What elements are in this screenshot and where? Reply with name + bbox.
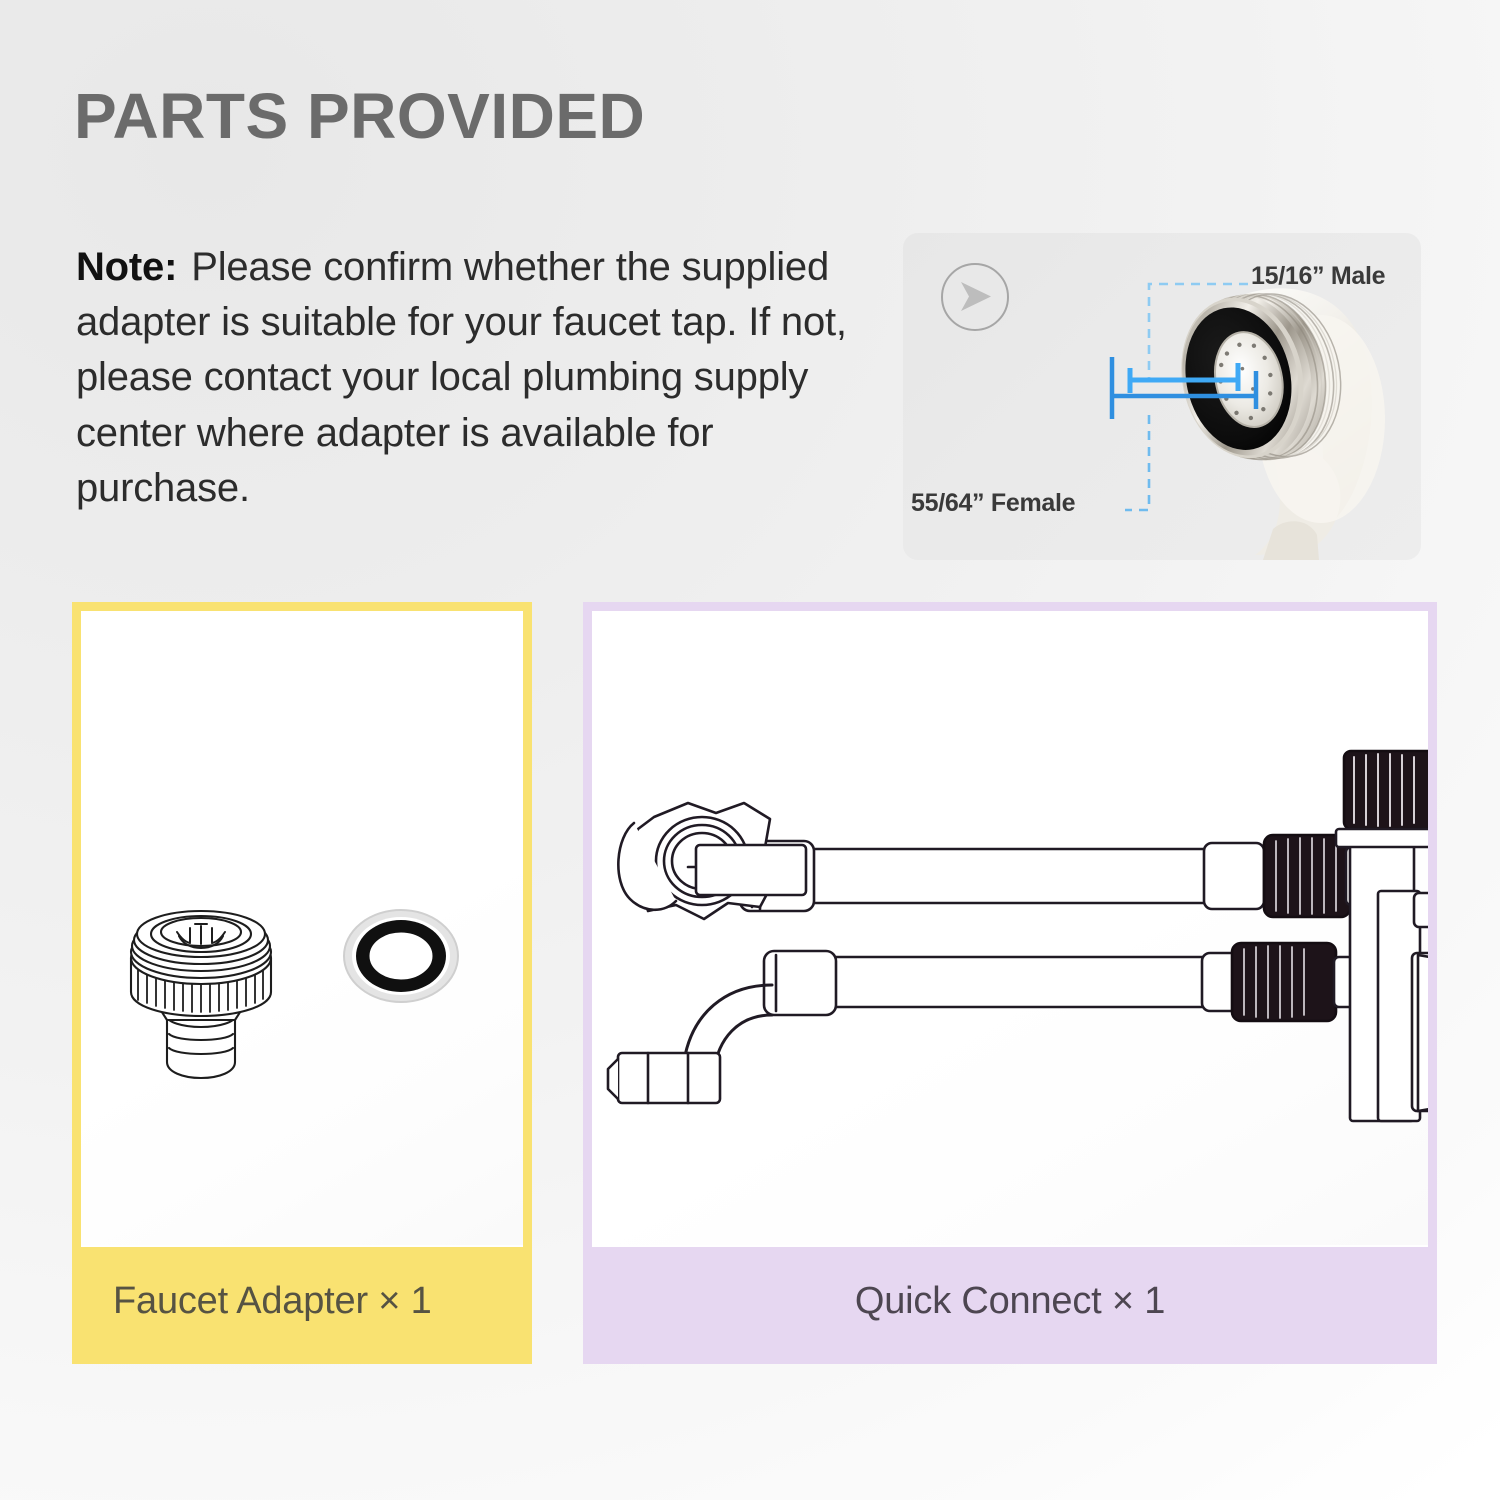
female-leader-line xyxy=(1125,415,1149,510)
callout-label-female: 55/64” Female xyxy=(911,489,1075,518)
part-caption-label: Faucet Adapter × 1 xyxy=(113,1280,432,1323)
note-block: Note:Please confirm whether the supplied… xyxy=(76,240,896,516)
page-title: PARTS PROVIDED xyxy=(74,84,645,148)
note-text: Please confirm whether the supplied adap… xyxy=(76,245,847,510)
part-caption-faucet-adapter: Faucet Adapter × 1 xyxy=(81,1247,523,1355)
quick-connect-line-drawing xyxy=(592,741,1428,1141)
male-leader-line xyxy=(1149,284,1248,381)
part-illustration-area-faucet-adapter xyxy=(81,611,523,1245)
callout-label-male: 15/16” Male xyxy=(1251,262,1385,291)
parts-provided-page: PARTS PROVIDED Note:Please confirm wheth… xyxy=(0,0,1500,1500)
note-label: Note: xyxy=(76,245,177,289)
part-illustration-area-quick-connect xyxy=(592,611,1428,1245)
part-panel-quick-connect: Quick Connect × 1 xyxy=(583,602,1437,1364)
part-panel-faucet-adapter: Faucet Adapter × 1 xyxy=(72,602,532,1364)
part-caption-label: Quick Connect × 1 xyxy=(855,1280,1165,1323)
rubber-washer-line-drawing xyxy=(336,891,466,1021)
part-caption-quick-connect: Quick Connect × 1 xyxy=(592,1247,1428,1355)
faucet-thread-photo-card: 15/16” Male 55/64” Female xyxy=(903,233,1421,560)
